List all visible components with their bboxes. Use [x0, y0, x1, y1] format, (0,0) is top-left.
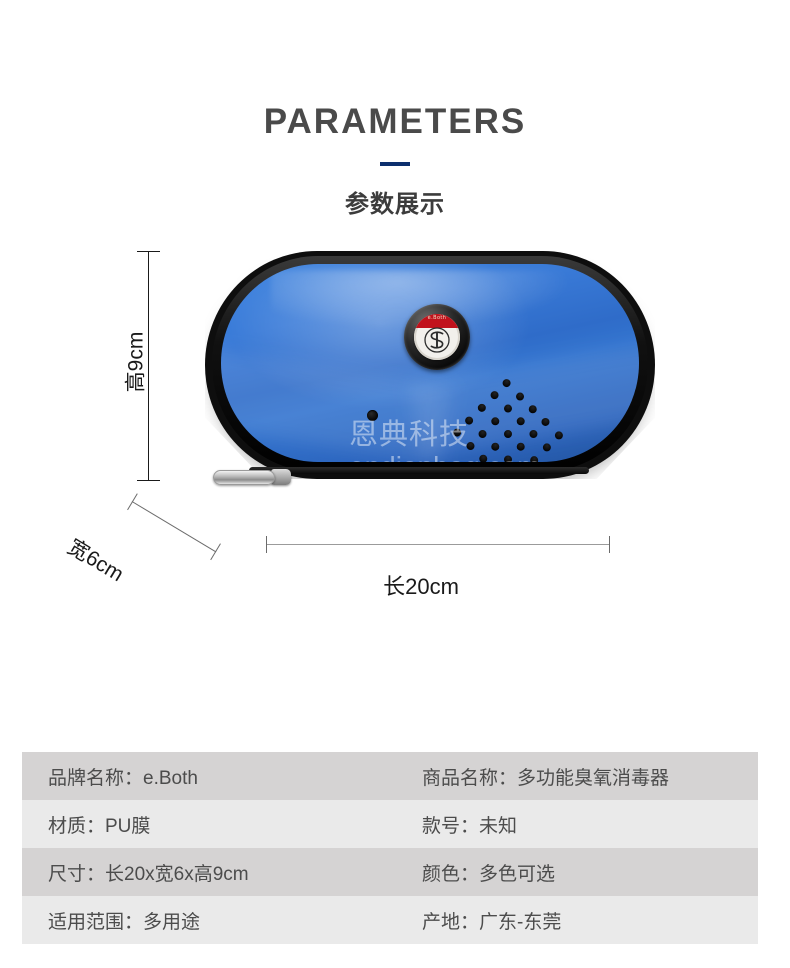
spec-color: 颜色：多色可选	[422, 859, 758, 886]
grille-hole	[553, 429, 564, 440]
grille-hole	[490, 441, 501, 452]
specification-table: 品牌名称：e.Both 商品名称：多功能臭氧消毒器 材质：PU膜 款号：未知 尺…	[22, 752, 758, 944]
table-row: 适用范围：多用途 产地：广东-东莞	[22, 896, 758, 944]
grille-hole	[501, 377, 512, 388]
spec-material: 材质：PU膜	[22, 811, 422, 838]
speaker-grille	[447, 373, 569, 462]
page-subtitle: 参数展示	[0, 184, 790, 219]
grille-hole	[503, 454, 514, 462]
spec-brand-name: 品牌名称：e.Both	[22, 763, 422, 790]
length-dimension-line	[266, 544, 610, 545]
zipper-pull	[213, 470, 275, 485]
product-image: e.Both	[205, 251, 655, 479]
grille-hole	[541, 442, 552, 453]
grille-hole	[476, 402, 487, 413]
page-title: PARAMETERS	[0, 104, 790, 139]
table-row: 品牌名称：e.Both 商品名称：多功能臭氧消毒器	[22, 752, 758, 800]
width-dimension-line	[132, 501, 217, 552]
product-dimension-stage: 高9cm 宽6cm 长20cm e.Both	[0, 239, 790, 709]
led-indicator-hole	[367, 410, 378, 421]
page-header: PARAMETERS 参数展示	[0, 0, 790, 219]
grille-hole	[451, 427, 462, 438]
grille-hole	[477, 428, 488, 439]
grille-hole	[477, 453, 488, 462]
grille-hole	[515, 441, 526, 452]
badge-monogram-icon	[421, 324, 453, 356]
badge-banner-text: e.Both	[428, 315, 447, 321]
grille-hole	[515, 416, 526, 427]
spec-origin: 产地：广东-东莞	[422, 907, 758, 934]
bag-blue-face: e.Both	[221, 264, 639, 462]
grille-hole	[489, 390, 500, 401]
length-dimension-label: 长20cm	[0, 569, 790, 601]
grille-hole	[540, 416, 551, 427]
grille-hole	[528, 454, 539, 462]
spec-usage-scope: 适用范围：多用途	[22, 907, 422, 934]
height-dimension-label: 高9cm	[119, 332, 149, 393]
table-row: 材质：PU膜 款号：未知	[22, 800, 758, 848]
zipper-track	[249, 467, 589, 474]
grille-hole	[489, 415, 500, 426]
grille-hole	[502, 403, 513, 414]
grille-hole	[464, 440, 475, 451]
grille-hole	[502, 428, 513, 439]
grille-hole	[527, 403, 538, 414]
spec-size: 尺寸：长20x宽6x高9cm	[22, 859, 422, 886]
spec-product-name: 商品名称：多功能臭氧消毒器	[422, 763, 758, 790]
badge-inner-disc: e.Both	[414, 314, 460, 360]
title-accent-rule	[380, 162, 410, 166]
length-dimension-text: 长20cm	[331, 574, 459, 599]
grille-hole	[514, 390, 525, 401]
grille-hole	[464, 415, 475, 426]
table-row: 尺寸：长20x宽6x高9cm 颜色：多色可选	[22, 848, 758, 896]
brand-badge: e.Both	[404, 304, 470, 370]
spec-model-no: 款号：未知	[422, 811, 758, 838]
grille-hole	[528, 429, 539, 440]
